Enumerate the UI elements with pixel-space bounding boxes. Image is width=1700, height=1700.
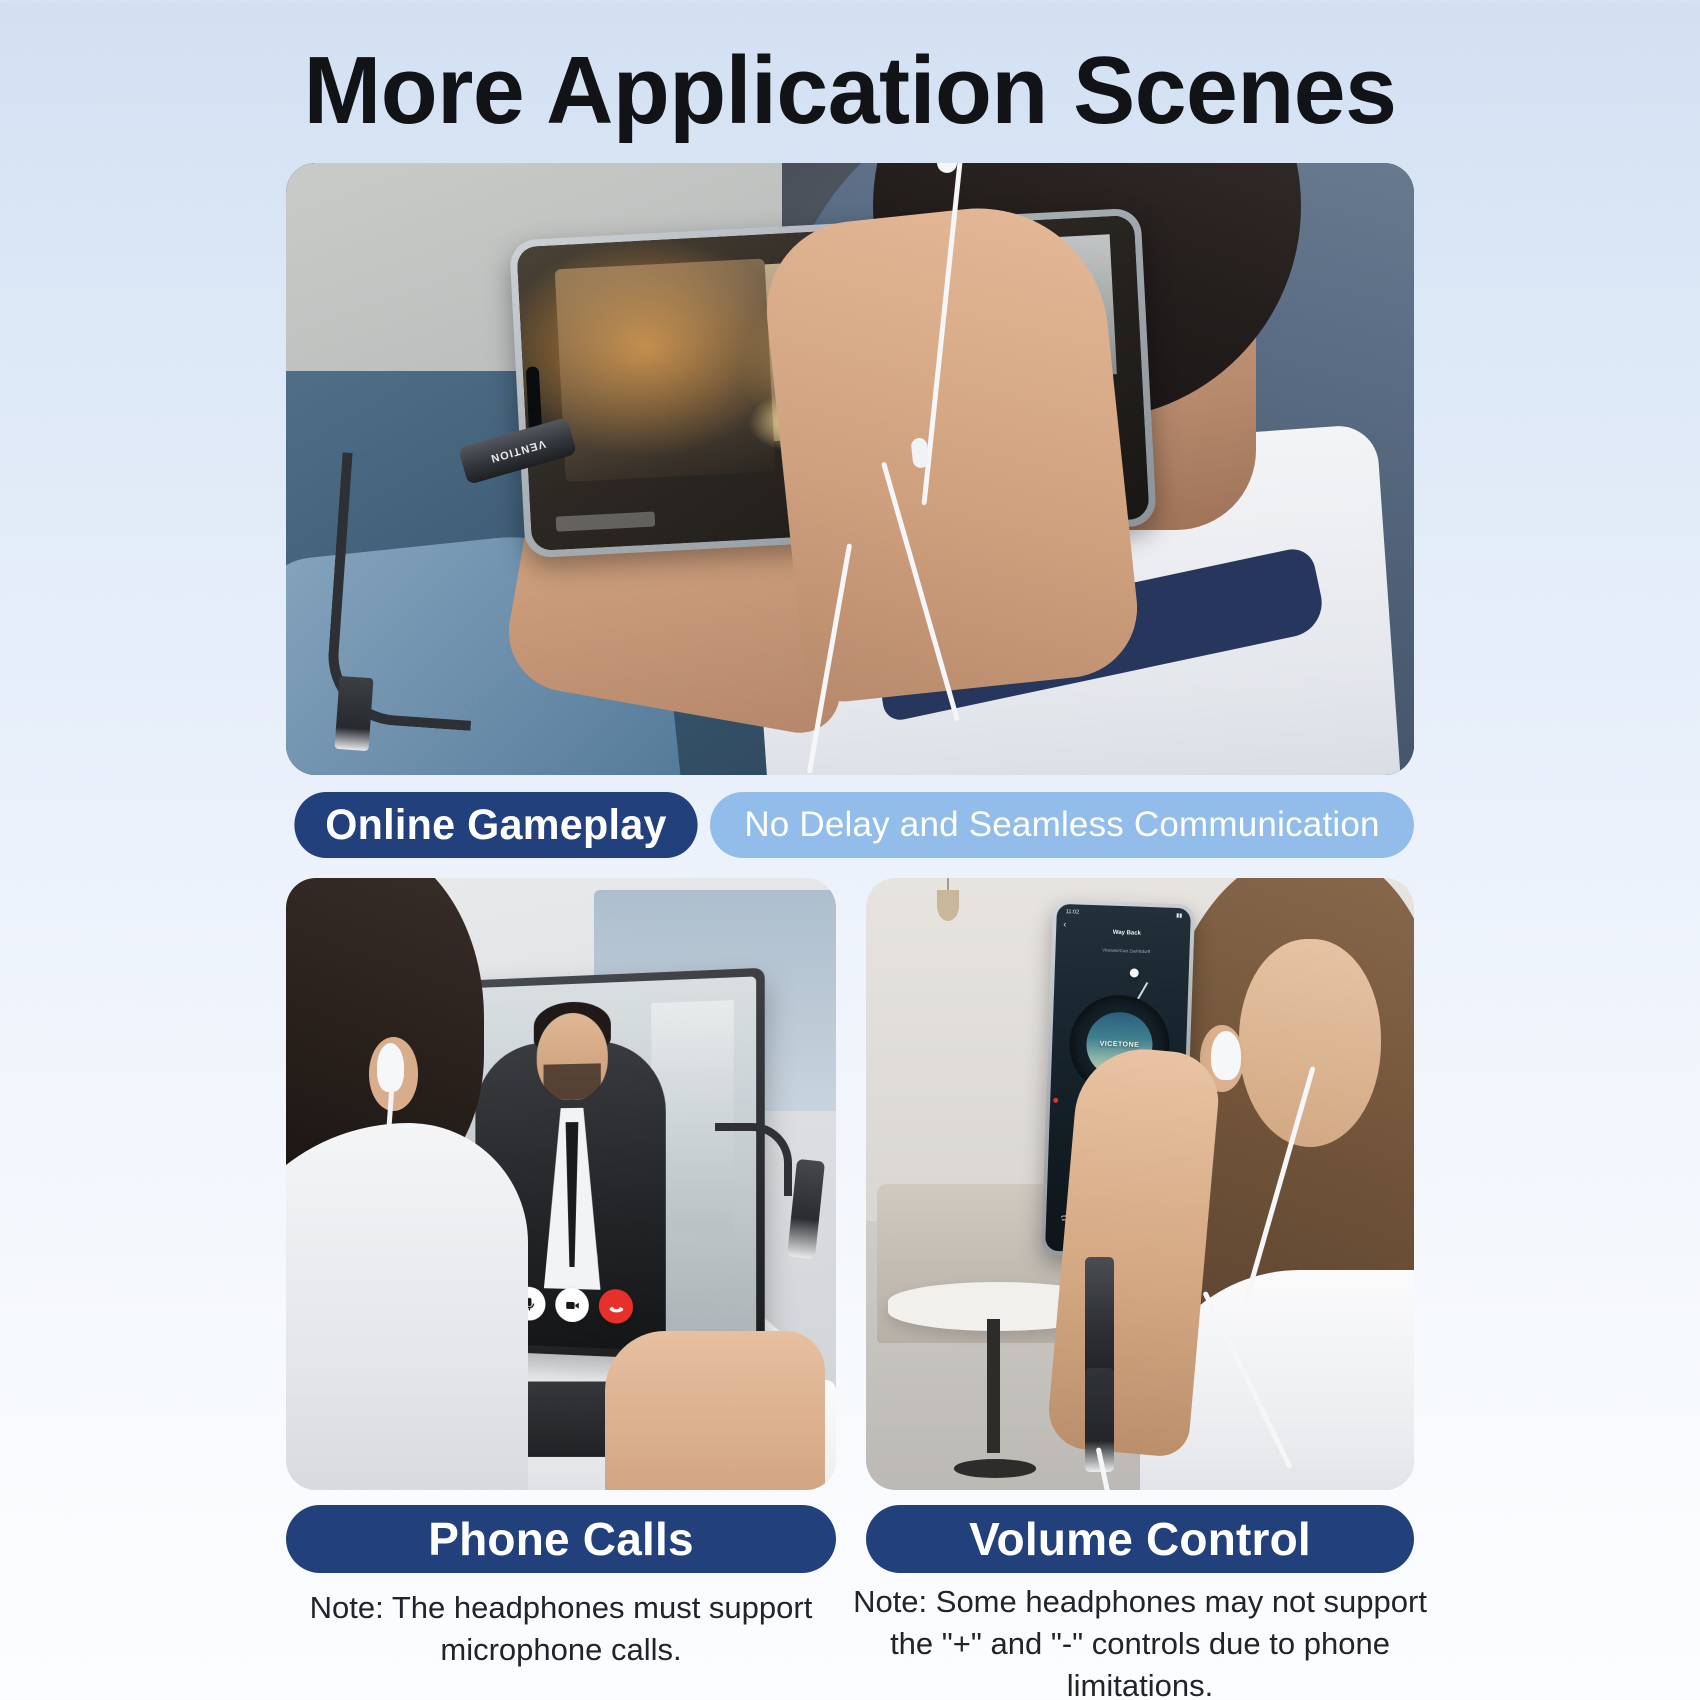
track-artist: Vicetone/Cozi Zuehlsdorff bbox=[1102, 948, 1150, 955]
scene-note-phone-calls: Note: The headphones must support microp… bbox=[286, 1587, 836, 1671]
volume-user-face bbox=[1239, 939, 1381, 1147]
track-title: Way Back bbox=[1113, 930, 1141, 937]
player-header: ‹ Way Back Vicetone/Cozi Zuehlsdorff bbox=[1055, 919, 1191, 960]
scene-note-volume-control: Note: Some headphones may not support th… bbox=[840, 1581, 1440, 1700]
volume-table-base bbox=[954, 1459, 1036, 1477]
volume-slider-knob[interactable] bbox=[1130, 969, 1139, 978]
scene-tagline-online-gameplay: No Delay and Seamless Communication bbox=[710, 792, 1414, 858]
volume-audio-adapter-top bbox=[1085, 1257, 1113, 1379]
scene-label-online-gameplay: Online Gameplay bbox=[294, 792, 697, 858]
scene-label-volume-control: Volume Control bbox=[866, 1505, 1414, 1573]
videocall-user-earbud bbox=[377, 1043, 405, 1092]
volume-user-earbud bbox=[1211, 1031, 1241, 1080]
earphone-wire-splitter bbox=[911, 438, 930, 470]
camera-button[interactable] bbox=[555, 1287, 589, 1322]
videocall-controls bbox=[513, 1286, 634, 1324]
chevron-left-icon[interactable]: ‹ bbox=[1063, 919, 1066, 929]
status-time: 11:02 bbox=[1065, 909, 1079, 917]
banner-online-gameplay: Online Gameplay No Delay and Seamless Co… bbox=[286, 792, 1414, 858]
scene-image-volume-control: 11:02 ▮▮ ‹ Way Back Vicetone/Cozi Zuehls… bbox=[866, 878, 1414, 1490]
scene-label-phone-calls: Phone Calls bbox=[286, 1505, 836, 1573]
end-call-button[interactable] bbox=[599, 1289, 633, 1324]
videocall-user-shoulder bbox=[286, 1123, 528, 1490]
scene-image-phone-calls bbox=[286, 878, 836, 1490]
status-icons: ▮▮ bbox=[1176, 912, 1182, 920]
camera-icon bbox=[564, 1296, 581, 1314]
recording-indicator bbox=[1053, 1098, 1058, 1103]
scene-image-online-gameplay: VENTION bbox=[286, 163, 1414, 775]
gameplay-right-arm bbox=[758, 196, 1144, 706]
caption-phone-calls: Phone Calls Note: The headphones must su… bbox=[286, 1505, 836, 1671]
caption-volume-control: Volume Control Note: Some headphones may… bbox=[866, 1505, 1414, 1700]
player-track-info: Way Back Vicetone/Cozi Zuehlsdorff bbox=[1069, 920, 1184, 960]
volume-table-leg bbox=[987, 1319, 1001, 1454]
adapter-jack bbox=[334, 676, 373, 752]
end-call-icon bbox=[607, 1297, 624, 1315]
game-corridor bbox=[555, 259, 776, 483]
adapter-brand-label: VENTION bbox=[488, 438, 546, 465]
volume-pendant-lamp bbox=[937, 890, 959, 921]
page-title: More Application Scenes bbox=[26, 36, 1675, 146]
game-hud bbox=[556, 512, 655, 532]
videocall-user-hands bbox=[605, 1331, 825, 1490]
